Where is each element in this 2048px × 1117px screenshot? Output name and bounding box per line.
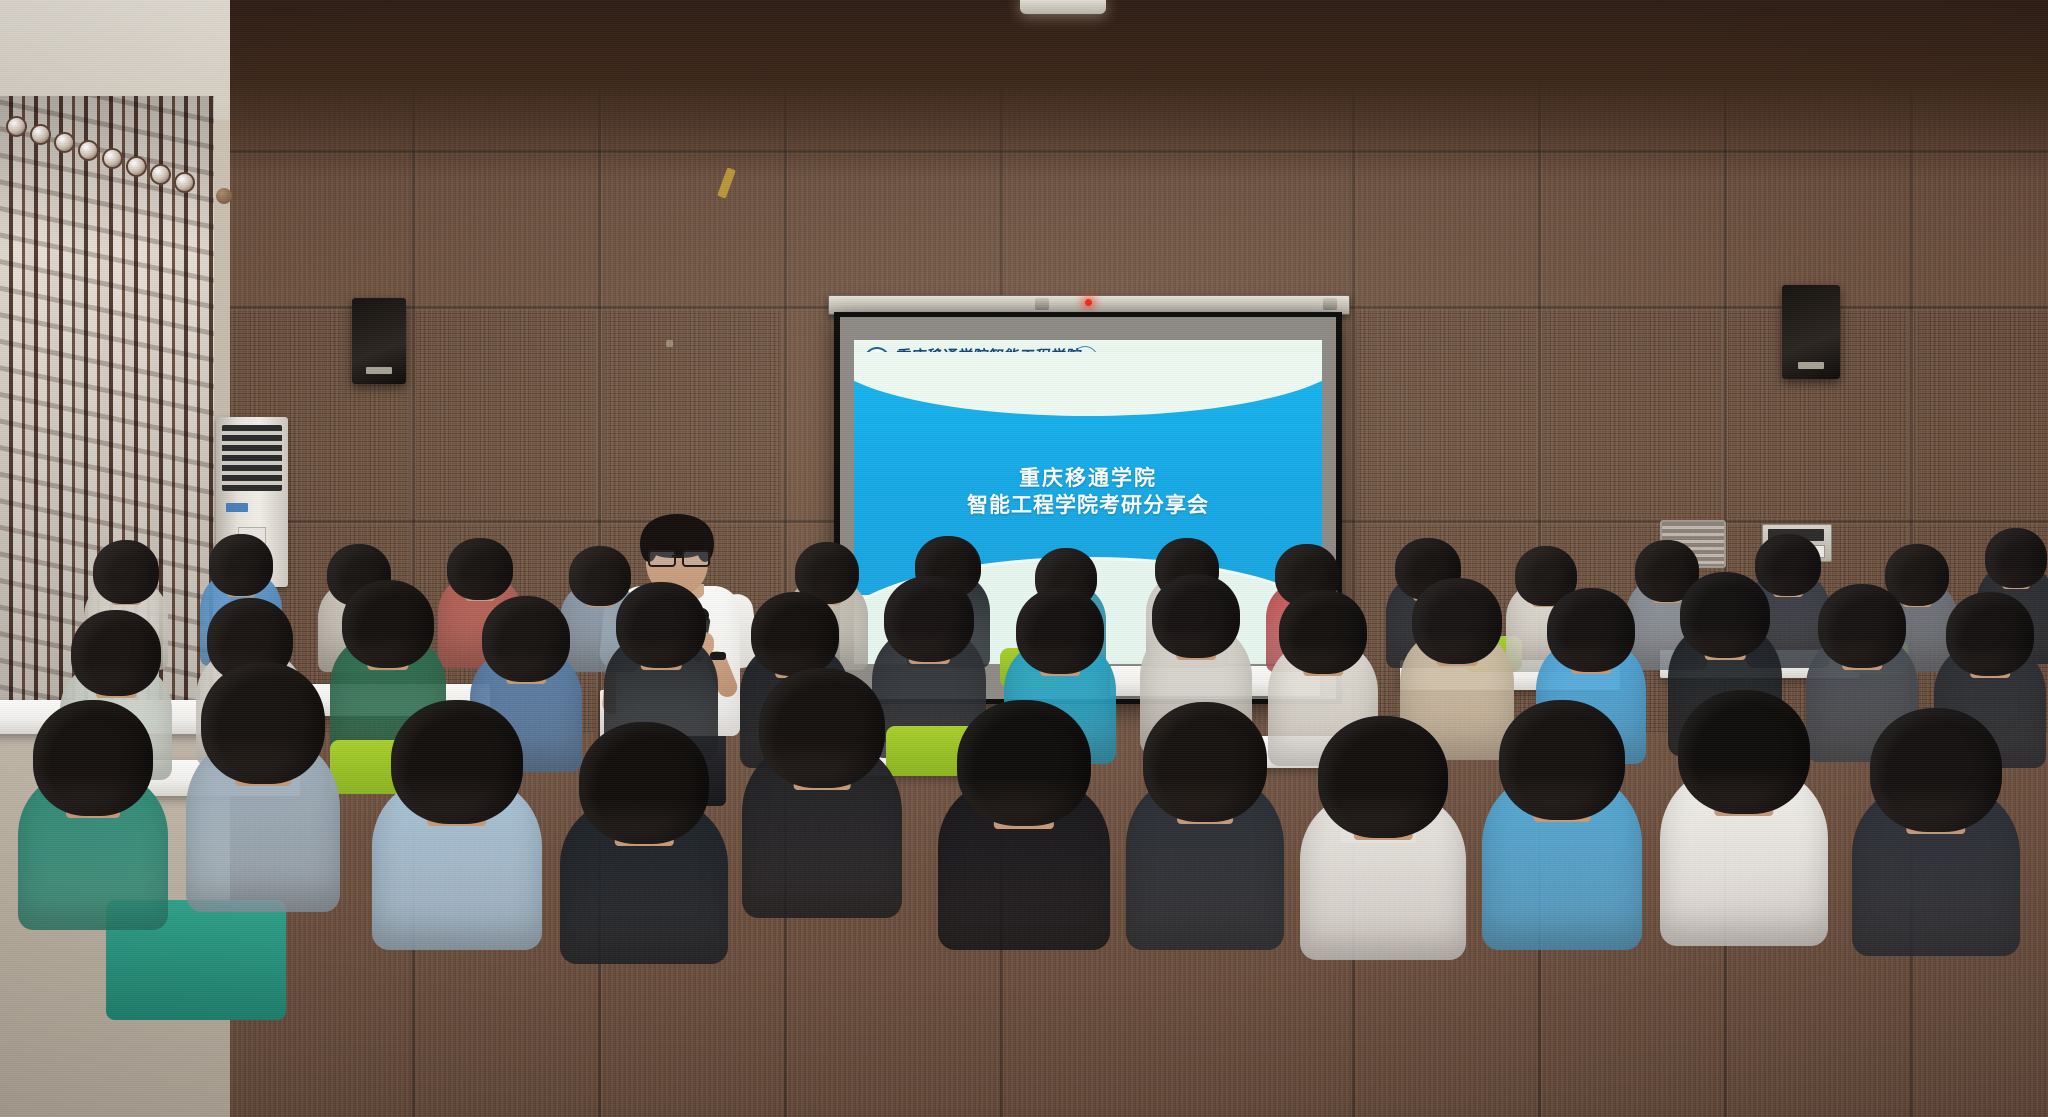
audience-member xyxy=(1660,690,1828,946)
audience-member-head xyxy=(1680,572,1770,658)
audience-member-head xyxy=(1946,592,2034,676)
audience-member xyxy=(938,700,1110,950)
glasses-icon xyxy=(648,550,706,563)
audience-member-head xyxy=(391,700,523,824)
audience-member-head xyxy=(1985,528,2047,588)
audience-member-head xyxy=(884,576,974,662)
audience-member xyxy=(186,662,340,912)
curtain-grommet xyxy=(102,148,123,169)
audience-member-head xyxy=(616,582,706,668)
audience-member-head xyxy=(1143,702,1267,822)
audience-member-head xyxy=(71,610,161,696)
audience-member-head xyxy=(201,662,325,784)
audience-member-head xyxy=(759,668,885,788)
audience-member-head xyxy=(93,540,159,604)
curtain-grommet xyxy=(174,172,195,193)
audience-member-head xyxy=(1318,716,1448,838)
audience-member-head xyxy=(957,700,1091,826)
curtain-grommet xyxy=(150,164,171,185)
audience-member-head xyxy=(1412,578,1502,664)
curtain-grommet xyxy=(6,116,27,137)
audience-member-head xyxy=(579,722,709,844)
upper-wall-shadow xyxy=(0,0,2048,180)
power-led-indicator xyxy=(1085,299,1092,306)
lecture-hall-photo: 重庆移通学院智能工程学院 CHONGQING COLLEGE OF MOBILE… xyxy=(0,0,2048,1117)
audience-member-head xyxy=(1499,700,1625,820)
audience-member xyxy=(1852,708,2020,956)
ac-vent-grille xyxy=(222,425,282,491)
slide-top-curve xyxy=(854,352,1322,416)
slide-title-line1: 重庆移通学院 xyxy=(854,466,1322,493)
curtain-rod-end xyxy=(216,188,232,204)
audience-member-head xyxy=(447,538,513,600)
audience-member xyxy=(742,668,902,918)
wall-mark xyxy=(666,340,673,347)
audience-member-head xyxy=(1818,584,1906,668)
screen-bracket xyxy=(1323,298,1337,310)
curtain-grommet xyxy=(126,156,147,177)
audience-member-head xyxy=(342,580,434,668)
ceiling-light-fixture xyxy=(1020,0,1106,14)
audience-member-head xyxy=(1678,690,1810,814)
audience-member xyxy=(18,700,168,930)
audience-member xyxy=(1126,702,1284,950)
speaker-badge xyxy=(366,367,392,374)
curtain-grommet xyxy=(78,140,99,161)
audience-member-head xyxy=(209,534,273,596)
ac-brand-badge xyxy=(226,503,248,512)
speaker-badge xyxy=(1798,362,1824,369)
wall-speaker-left xyxy=(352,298,406,384)
audience-member xyxy=(1300,716,1466,960)
audience-member xyxy=(560,722,728,964)
slide-title: 重庆移通学院 智能工程学院考研分享会 xyxy=(854,466,1322,520)
audience-member-head xyxy=(1152,574,1240,658)
audience-member xyxy=(372,700,542,950)
wall-speaker-right xyxy=(1782,285,1840,379)
audience-member-head xyxy=(1016,588,1104,674)
glasses-bridge xyxy=(672,555,682,557)
audience-member-head xyxy=(482,596,570,682)
audience-member-head xyxy=(33,700,153,816)
glasses-lens xyxy=(648,550,676,567)
glasses-lens xyxy=(682,550,710,567)
audience-member-head xyxy=(1279,590,1367,674)
screen-bracket xyxy=(1035,298,1049,310)
curtain-grommet xyxy=(30,124,51,145)
audience-member xyxy=(1482,700,1642,950)
slide-title-line2: 智能工程学院考研分享会 xyxy=(854,493,1322,520)
audience-member-head xyxy=(1547,588,1635,672)
audience-member-head xyxy=(1870,708,2002,832)
curtain-grommet xyxy=(54,132,75,153)
audience-member-head xyxy=(751,592,839,676)
